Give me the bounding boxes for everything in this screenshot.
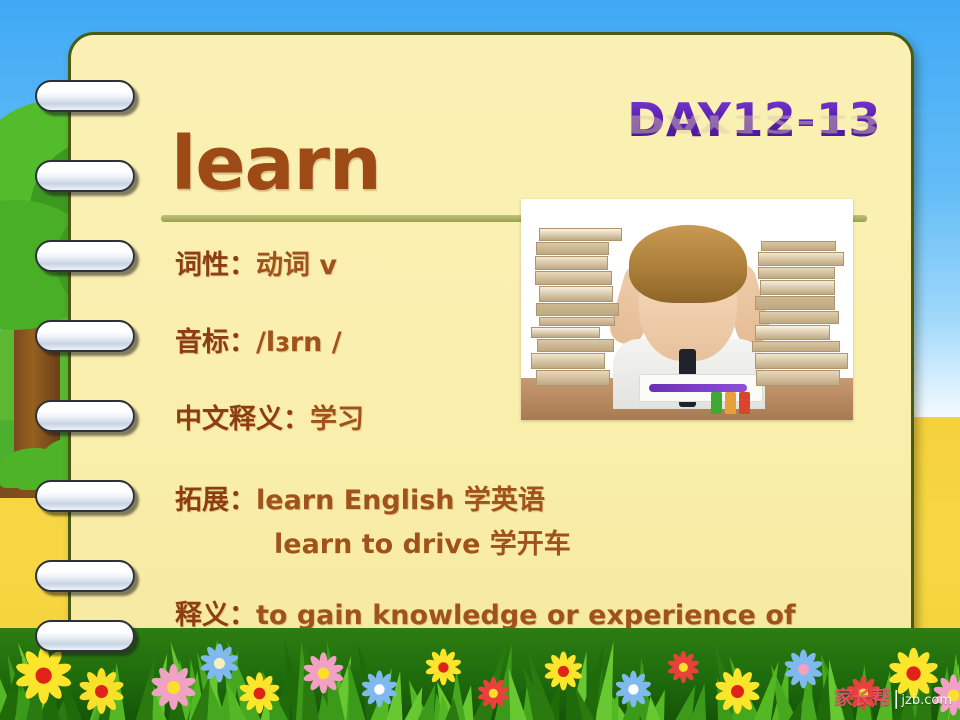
book bbox=[535, 271, 612, 286]
book bbox=[758, 252, 844, 267]
book bbox=[531, 327, 600, 338]
illustration-photo bbox=[521, 199, 853, 420]
flower-icon bbox=[714, 668, 760, 714]
flower-icon bbox=[361, 671, 398, 708]
row-value: 学习 bbox=[310, 404, 364, 435]
watermark-url: jzb.com bbox=[901, 693, 952, 708]
spiral-ring bbox=[35, 160, 135, 192]
flower-icon bbox=[14, 646, 72, 704]
book bbox=[758, 267, 836, 279]
purple-pen bbox=[649, 384, 747, 392]
row-expansion-line2: learn to drive 学开车 bbox=[274, 522, 571, 561]
row-expansion: 拓展：learn English 学英语 bbox=[175, 478, 545, 517]
row-label: 词性： bbox=[175, 250, 256, 281]
row-value: learn English 学英语 bbox=[256, 485, 545, 516]
flower-core bbox=[374, 684, 384, 694]
row-label: 拓展： bbox=[175, 485, 256, 516]
watermark-separator: | bbox=[893, 687, 899, 709]
book bbox=[539, 228, 623, 240]
book bbox=[539, 286, 614, 302]
row-value: 动词 v bbox=[256, 250, 337, 281]
flower-icon bbox=[543, 651, 582, 690]
spiral-ring bbox=[35, 620, 135, 652]
book bbox=[759, 311, 839, 324]
flower-icon bbox=[150, 664, 196, 710]
marker-red bbox=[739, 392, 750, 414]
spiral-ring bbox=[35, 400, 135, 432]
flower-core bbox=[488, 688, 497, 697]
flower-core bbox=[906, 666, 920, 680]
book bbox=[539, 317, 615, 326]
flower-icon bbox=[425, 649, 462, 686]
book bbox=[531, 353, 605, 369]
spiral-ring bbox=[35, 240, 135, 272]
flower-core bbox=[731, 685, 744, 698]
book bbox=[536, 303, 619, 316]
day-label-reflection: DAY12-13 bbox=[627, 109, 881, 139]
book bbox=[536, 370, 610, 386]
book bbox=[536, 242, 609, 256]
flower-core bbox=[253, 687, 265, 699]
flower-icon bbox=[78, 668, 124, 714]
flower-icon bbox=[667, 651, 699, 683]
flower-icon bbox=[199, 643, 238, 682]
flower-icon bbox=[615, 671, 652, 708]
row-label: 释义： bbox=[175, 600, 256, 631]
flower-core bbox=[797, 663, 808, 674]
flower-icon bbox=[477, 677, 509, 709]
slide-background: DAY12-13 DAY12-13 learn 词性：动词 v 音标：/lɜrn… bbox=[0, 0, 960, 720]
book bbox=[755, 353, 848, 369]
flower-core bbox=[167, 681, 180, 694]
flower-core bbox=[95, 685, 108, 698]
flower-core bbox=[35, 667, 51, 683]
book bbox=[535, 256, 607, 269]
flower-icon bbox=[238, 672, 279, 713]
watermark: 家长帮|jzb.com bbox=[834, 683, 952, 710]
marker-orange bbox=[725, 392, 736, 414]
row-label: 音标： bbox=[175, 327, 256, 358]
marker-green bbox=[711, 392, 722, 414]
notebook-page: DAY12-13 DAY12-13 learn 词性：动词 v 音标：/lɜrn… bbox=[68, 32, 914, 672]
row-chinese-meaning: 中文释义：学习 bbox=[175, 397, 364, 436]
grass-blade bbox=[444, 697, 464, 720]
row-phonetic: 音标：/lɜrn / bbox=[175, 320, 342, 359]
row-definition: 释义：to gain knowledge or experience of bbox=[175, 593, 796, 632]
flower-core bbox=[628, 684, 638, 694]
row-part-of-speech: 词性：动词 v bbox=[175, 243, 337, 282]
flower-core bbox=[438, 662, 448, 672]
flower-icon bbox=[783, 649, 822, 688]
grass-strip bbox=[0, 628, 960, 720]
flower-core bbox=[213, 657, 224, 668]
book bbox=[755, 296, 835, 310]
book bbox=[755, 325, 830, 340]
spiral-ring bbox=[35, 480, 135, 512]
spiral-ring bbox=[35, 80, 135, 112]
flower-core bbox=[557, 665, 568, 676]
book bbox=[537, 339, 614, 353]
row-value: /lɜrn / bbox=[256, 327, 342, 358]
flower-icon bbox=[302, 652, 343, 693]
flower-core bbox=[317, 667, 329, 679]
row-label: 中文释义： bbox=[175, 404, 310, 435]
watermark-brand: 家长帮 bbox=[834, 687, 891, 709]
page-title: learn bbox=[171, 121, 381, 207]
flower-core bbox=[678, 662, 687, 671]
spiral-ring bbox=[35, 320, 135, 352]
spiral-ring bbox=[35, 560, 135, 592]
book bbox=[752, 341, 840, 352]
book bbox=[761, 241, 836, 250]
book bbox=[756, 370, 840, 386]
boy-hair bbox=[629, 225, 747, 303]
book bbox=[760, 280, 835, 295]
row-value: to gain knowledge or experience of bbox=[256, 600, 796, 631]
